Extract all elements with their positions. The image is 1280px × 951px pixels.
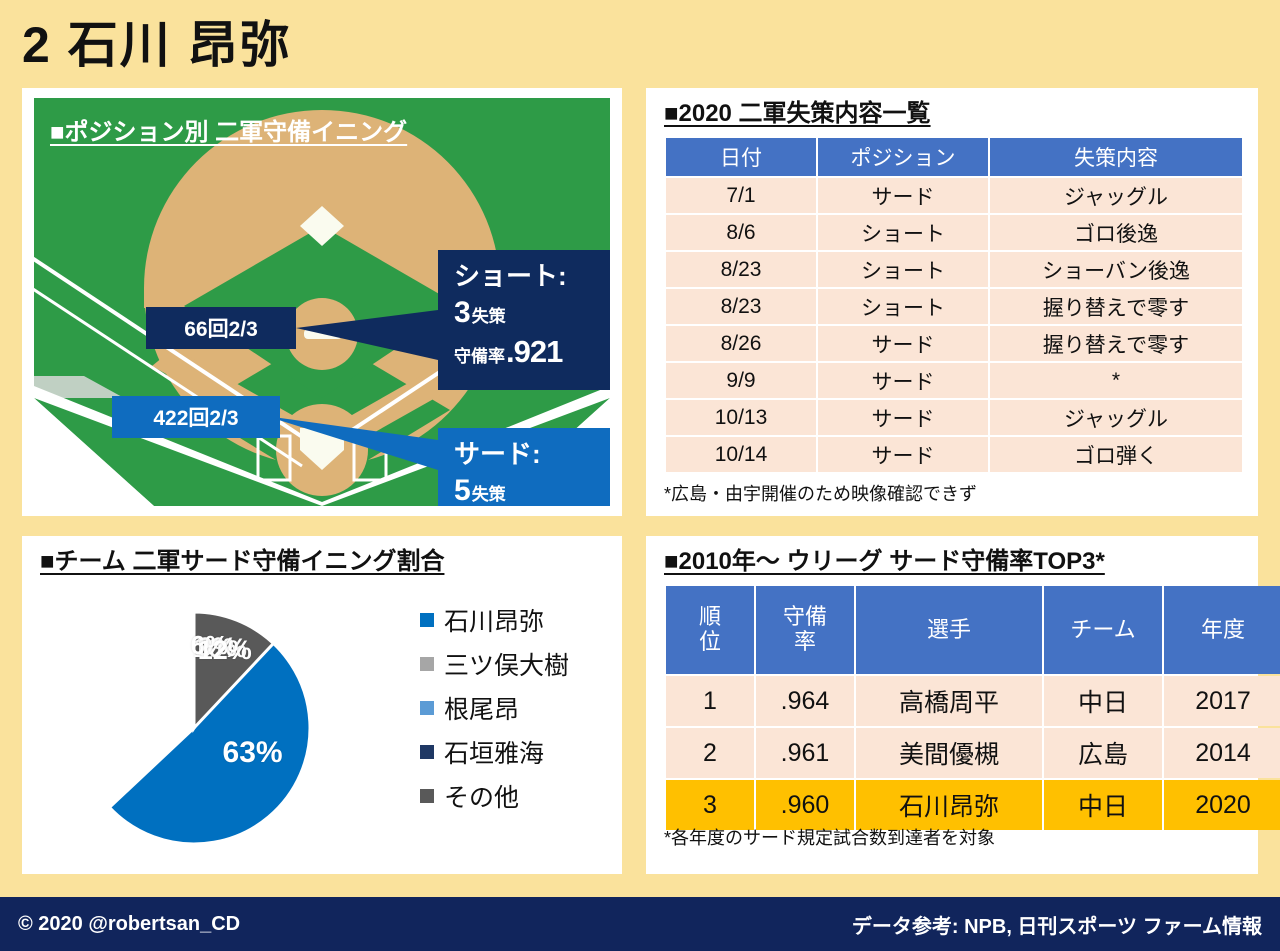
error-col-header-0: 日付 [666,138,816,176]
error-cell-r7-c0: 10/14 [666,437,816,472]
third-base-callout: サード: 5 失策 守備率 .960 [438,428,610,506]
pie-chart: 63%10%9%6%12% [32,594,412,862]
legend-swatch-icon-4 [420,789,434,803]
top3-cell-r2-c4: 2020 [1164,780,1280,830]
table-row: 2.961美間優槻広島2014 [666,728,1280,778]
legend-item-3: 石垣雅海 [420,730,620,774]
legend-item-0: 石川昂弥 [420,598,620,642]
top3-cell-r2-c1: .960 [756,780,854,830]
pie-panel-title: ■チーム 二軍サード守備イニング割合 [40,548,444,576]
error-cell-r4-c0: 8/26 [666,326,816,361]
error-col-header-2: 失策内容 [990,138,1242,176]
third-base-position-label: サード: [454,438,610,471]
error-cell-r0-c2: ジャッグル [990,178,1242,213]
third-base-errors-value: 5 [454,473,471,507]
top3-cell-r1-c4: 2014 [1164,728,1280,778]
top3-cell-r2-c2: 石川昂弥 [856,780,1042,830]
table-row: 10/13サードジャッグル [666,400,1242,435]
error-panel-title: ■2020 二軍失策内容一覧 [664,100,931,128]
top3-cell-r0-c4: 2017 [1164,676,1280,726]
error-cell-r1-c2: ゴロ後逸 [990,215,1242,250]
top3-cell-r0-c0: 1 [666,676,754,726]
table-row: 8/23ショートショーバン後逸 [666,252,1242,287]
legend-swatch-icon-3 [420,745,434,759]
top3-cell-r0-c2: 高橋周平 [856,676,1042,726]
shortstop-rate-label: 守備率 [454,342,505,367]
legend-item-2: 根尾昂 [420,686,620,730]
error-cell-r0-c1: サード [818,178,988,213]
error-cell-r1-c1: ショート [818,215,988,250]
error-cell-r3-c1: ショート [818,289,988,324]
shortstop-errors-unit: 失策 [472,307,506,327]
legend-label-2: 根尾昂 [444,690,519,726]
legend-item-4: その他 [420,774,620,818]
pie-label-4: 12% [198,635,252,666]
error-cell-r2-c0: 8/23 [666,252,816,287]
legend-label-0: 石川昂弥 [444,602,544,638]
infographic-page: 2 石川 昂弥 [0,0,1280,951]
error-cell-r4-c2: 握り替えで零す [990,326,1242,361]
table-row: 9/9サード* [666,363,1242,398]
page-title: 2 石川 昂弥 [22,20,292,70]
error-col-header-1: ポジション [818,138,988,176]
third-base-errors-unit: 失策 [472,485,506,505]
table-header-row: 順位守備率選手チーム年度 [666,586,1280,674]
shortstop-errors-value: 3 [454,295,471,331]
error-cell-r6-c2: ジャッグル [990,400,1242,435]
field-panel-title: ■ポジション別 二軍守備イニング [50,112,407,147]
shortstop-callout: ショート: 3 失策 守備率 .921 [438,250,610,390]
top3-cell-r1-c1: .961 [756,728,854,778]
league-top3-panel: ■2010年〜 ウリーグ サード守備率TOP3* 順位守備率選手チーム年度 1.… [646,536,1258,874]
legend-swatch-icon-1 [420,657,434,671]
top3-cell-r1-c3: 広島 [1044,728,1162,778]
page-header: 2 石川 昂弥 [22,8,1258,82]
error-cell-r1-c0: 8/6 [666,215,816,250]
pie-legend: 石川昂弥三ツ俣大樹根尾昂石垣雅海その他 [420,598,620,818]
table-row-highlighted: 3.960石川昂弥中日2020 [666,780,1280,830]
top3-cell-r2-c0: 3 [666,780,754,830]
pie-label-0: 63% [223,736,283,770]
shortstop-innings-pill: 66回2/3 [146,307,296,349]
shortstop-position-label: ショート: [454,260,609,293]
table-row: 8/26サード握り替えで零す [666,326,1242,361]
table-header-row: 日付ポジション失策内容 [666,138,1242,176]
top3-table: 順位守備率選手チーム年度 1.964高橋周平中日20172.961美間優槻広島2… [664,584,1280,832]
table-row: 7/1サードジャッグル [666,178,1242,213]
error-detail-panel: ■2020 二軍失策内容一覧 日付ポジション失策内容 7/1サードジャッグル8/… [646,88,1258,516]
footer-source: データ参考: NPB, 日刊スポーツ ファーム情報 [852,910,1262,939]
fielding-innings-panel: ■ポジション別 二軍守備イニング 66回2/3 422回2/3 ショート: 3 … [22,88,622,516]
legend-item-1: 三ツ俣大樹 [420,642,620,686]
error-cell-r4-c1: サード [818,326,988,361]
third-base-innings-share-panel: ■チーム 二軍サード守備イニング割合 63%10%9%6%12% 石川昂弥三ツ俣… [22,536,622,874]
legend-label-1: 三ツ俣大樹 [444,646,569,682]
error-cell-r2-c2: ショーバン後逸 [990,252,1242,287]
error-cell-r6-c1: サード [818,400,988,435]
top3-col-header-0: 順位 [666,586,754,674]
top3-cell-r0-c1: .964 [756,676,854,726]
table-row: 10/14サードゴロ弾く [666,437,1242,472]
top3-col-header-2: 選手 [856,586,1042,674]
table-row: 8/23ショート握り替えで零す [666,289,1242,324]
shortstop-rate-value: .921 [506,334,562,370]
third-base-innings-pill: 422回2/3 [112,396,280,438]
table-row: 8/6ショートゴロ後逸 [666,215,1242,250]
error-cell-r6-c0: 10/13 [666,400,816,435]
error-cell-r0-c0: 7/1 [666,178,816,213]
top3-panel-title: ■2010年〜 ウリーグ サード守備率TOP3* [664,548,1105,576]
error-cell-r7-c1: サード [818,437,988,472]
error-cell-r5-c1: サード [818,363,988,398]
top3-col-header-1: 守備率 [756,586,854,674]
legend-label-3: 石垣雅海 [444,734,544,770]
legend-label-4: その他 [444,778,519,814]
legend-swatch-icon-0 [420,613,434,627]
footer-copyright: © 2020 @robertsan_CD [18,913,240,936]
baseball-field-diagram: ■ポジション別 二軍守備イニング 66回2/3 422回2/3 ショート: 3 … [34,98,610,506]
legend-swatch-icon-2 [420,701,434,715]
error-cell-r5-c2: * [990,363,1242,398]
top3-cell-r1-c0: 2 [666,728,754,778]
page-footer: © 2020 @robertsan_CD データ参考: NPB, 日刊スポーツ … [0,897,1280,951]
table-row: 1.964高橋周平中日2017 [666,676,1280,726]
error-cell-r3-c2: 握り替えで零す [990,289,1242,324]
top3-cell-r2-c3: 中日 [1044,780,1162,830]
error-table-note: *広島・由宇開催のため映像確認できず [664,480,977,506]
error-cell-r5-c0: 9/9 [666,363,816,398]
error-cell-r2-c1: ショート [818,252,988,287]
error-detail-table: 日付ポジション失策内容 7/1サードジャッグル8/6ショートゴロ後逸8/23ショ… [664,136,1244,474]
error-cell-r7-c2: ゴロ弾く [990,437,1242,472]
top3-cell-r0-c3: 中日 [1044,676,1162,726]
top3-col-header-3: チーム [1044,586,1162,674]
top3-table-note: *各年度のサード規定試合数到達者を対象 [664,824,995,850]
error-cell-r3-c0: 8/23 [666,289,816,324]
top3-cell-r1-c2: 美間優槻 [856,728,1042,778]
top3-col-header-4: 年度 [1164,586,1280,674]
